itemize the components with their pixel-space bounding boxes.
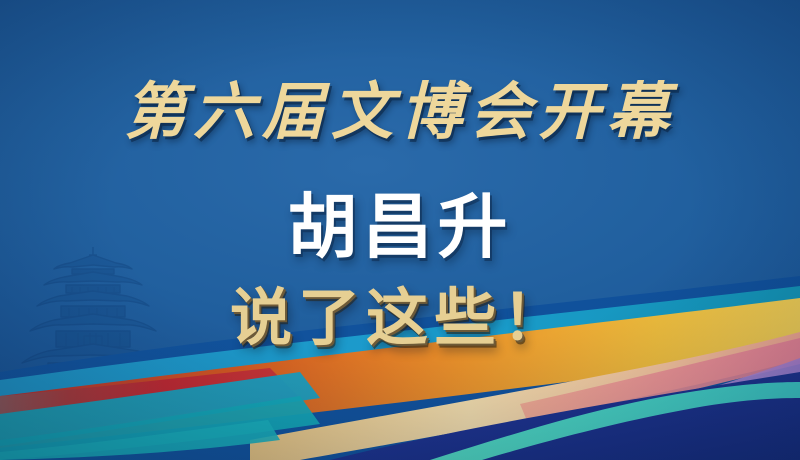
text-stack: 第六届文博会开幕 胡昌升 说了这些！: [0, 0, 800, 460]
person-name: 胡昌升: [0, 192, 800, 262]
page-title-calligraphy: 第六届文博会开幕: [0, 82, 800, 144]
kicker-text: 说了这些！: [0, 288, 800, 350]
poster-canvas: 第六届文博会开幕 胡昌升 说了这些！: [0, 0, 800, 460]
